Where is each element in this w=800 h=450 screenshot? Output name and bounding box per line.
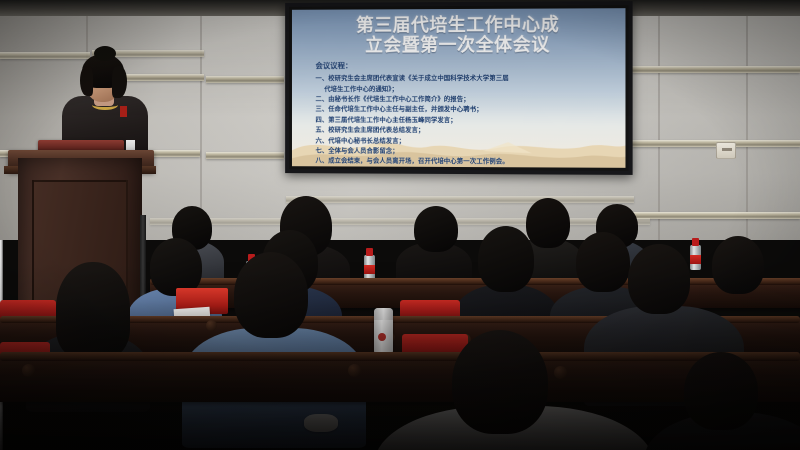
slide-agenda-list: 一、校研究生会主席团代表宣读《关于成立中国科学技术大学第三届 代培生工作中心的通… (315, 74, 615, 168)
slide-subtitle: 会议议程： (315, 60, 615, 71)
wall-trim (632, 212, 800, 219)
audience-head (526, 198, 570, 248)
bench-row-front (0, 356, 800, 402)
agenda-item-cont: 代培生工作中心的通知》； (315, 85, 615, 95)
audience-head (628, 244, 690, 314)
water-bottle (690, 238, 701, 270)
presenter-badge (120, 106, 127, 117)
wall-trim (286, 196, 634, 203)
presenter-necklace (92, 100, 118, 110)
wall-trim (632, 66, 800, 73)
bench-rail (0, 352, 800, 361)
audience-head (234, 252, 308, 338)
wall-seam (658, 0, 660, 240)
bottle-label (364, 265, 375, 275)
wall-trim (150, 218, 650, 225)
agenda-item: 五、校研究生会主席团代表总结发言； (315, 126, 615, 137)
wall-trim (0, 52, 90, 59)
thermos-flask (374, 308, 393, 354)
audience-head (414, 206, 458, 252)
water-bottle (364, 248, 375, 280)
wall-seam (746, 0, 748, 240)
agenda-item: 三、任命代培生工作中心主任与副主任，并颁发中心聘书； (315, 105, 615, 116)
agenda-item: 八、成立会结束，与会人员离开场，召开代培中心第一次工作例会。 (315, 157, 615, 168)
agenda-item: 一、校研究生会主席团代表宣读《关于成立中国科学技术大学第三届 代培生工作中心的通… (315, 74, 615, 95)
audience-head (56, 262, 130, 358)
lecture-hall-room: 第三届代培生工作中心成 立会暨第一次全体会议 会议议程： 一、校研究生会主席团代… (0, 0, 800, 450)
audience-head (712, 236, 764, 294)
bottle-cap (692, 238, 700, 246)
bench-knob (554, 366, 567, 379)
agenda-item: 二、由秘书长作《代培生工作中心工作简介》的报告； (315, 95, 615, 106)
wall-trim (206, 152, 284, 159)
bench-knob (348, 364, 361, 377)
wall-seam (200, 0, 202, 240)
bench-knob (206, 320, 217, 331)
presenter-hair-bun (94, 46, 116, 61)
slide-title-line2: 立会暨第一次全体会议 (302, 35, 616, 56)
thermos-logo (378, 333, 386, 341)
agenda-item: 四、第三届代培生工作中心主任杨玉峰同学发言； (315, 116, 615, 127)
projection-screen-frame: 第三届代培生工作中心成 立会暨第一次全体会议 会议议程： 一、校研究生会主席团代… (285, 1, 632, 175)
slide-title-line1: 第三届代培生工作中心成 (302, 14, 616, 35)
audience-head (576, 232, 630, 292)
projection-screen: 第三届代培生工作中心成 立会暨第一次全体会议 会议议程： 一、校研究生会主席团代… (292, 8, 626, 168)
conference-photo: 第三届代培生工作中心成 立会暨第一次全体会议 会议议程： 一、校研究生会主席团代… (0, 0, 800, 450)
presenter-hair-left (80, 66, 93, 96)
power-outlet (716, 142, 736, 159)
bench-knob (22, 364, 35, 377)
audience-head (478, 226, 534, 292)
agenda-item-main: 一、校研究生会主席团代表宣读《关于成立中国科学技术大学第三届 (315, 75, 508, 82)
wall-trim (206, 76, 284, 83)
bottle-label (690, 255, 701, 265)
tissue-paper (304, 414, 338, 432)
bottle-cap (366, 248, 374, 256)
audience-head (684, 352, 758, 430)
slide-content: 第三届代培生工作中心成 立会暨第一次全体会议 会议议程： 一、校研究生会主席团代… (292, 8, 626, 168)
thermos-cap (374, 308, 393, 320)
audience-head (452, 330, 548, 434)
